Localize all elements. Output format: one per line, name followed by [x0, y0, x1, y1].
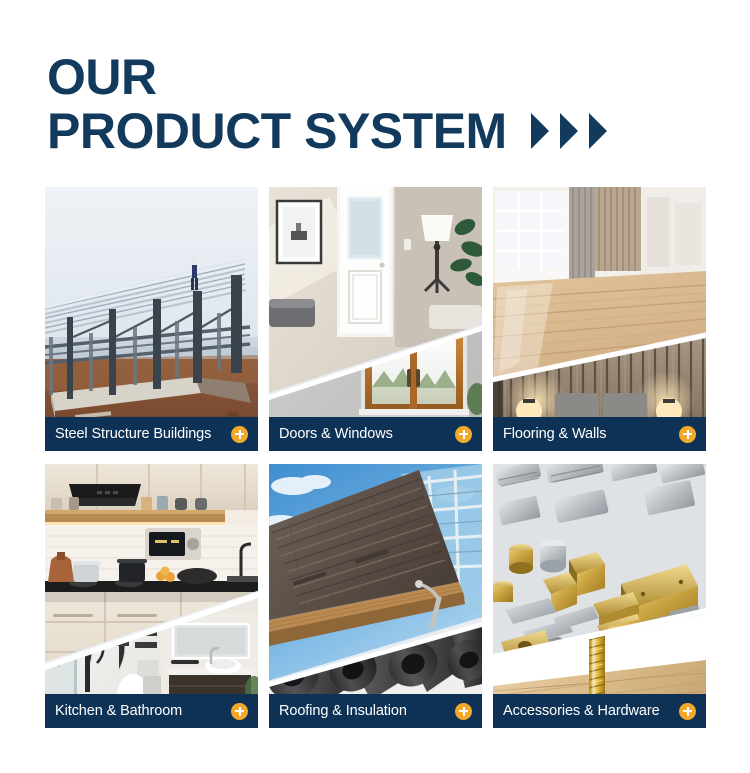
card-image-steel-structure-buildings — [45, 187, 258, 451]
card-label-text: Flooring & Walls — [503, 426, 679, 442]
plus-icon[interactable] — [231, 426, 248, 443]
product-card-doors-windows[interactable]: Doors & Windows — [269, 187, 482, 451]
product-card-grid: Steel Structure Buildings — [45, 187, 706, 728]
chevron-right-icon — [558, 111, 580, 151]
page-title-line-1: OUR — [47, 52, 609, 102]
chevron-group — [529, 111, 609, 151]
card-label-bar[interactable]: Accessories & Hardware — [493, 694, 706, 728]
card-label-text: Accessories & Hardware — [503, 703, 679, 719]
steel-structure-illustration — [45, 187, 258, 451]
product-card-roofing-insulation[interactable]: Roofing & Insulation — [269, 464, 482, 728]
card-image-flooring-walls — [493, 187, 706, 451]
card-image-roofing-insulation — [269, 464, 482, 728]
card-label-text: Roofing & Insulation — [279, 703, 455, 719]
plus-icon[interactable] — [679, 703, 696, 720]
chevron-right-icon — [587, 111, 609, 151]
page-title: OUR PRODUCT SYSTEM — [47, 52, 609, 156]
card-label-bar[interactable]: Steel Structure Buildings — [45, 417, 258, 451]
plus-icon[interactable] — [231, 703, 248, 720]
product-card-kitchen-bathroom[interactable]: Kitchen & Bathroom — [45, 464, 258, 728]
card-image-doors-windows — [269, 187, 482, 451]
product-card-steel-structure-buildings[interactable]: Steel Structure Buildings — [45, 187, 258, 451]
plus-icon[interactable] — [455, 426, 472, 443]
card-label-text: Doors & Windows — [279, 426, 455, 442]
card-label-bar[interactable]: Roofing & Insulation — [269, 694, 482, 728]
card-label-bar[interactable]: Flooring & Walls — [493, 417, 706, 451]
card-label-bar[interactable]: Kitchen & Bathroom — [45, 694, 258, 728]
product-card-flooring-walls[interactable]: Flooring & Walls — [493, 187, 706, 451]
card-image-kitchen-bathroom — [45, 464, 258, 728]
plus-icon[interactable] — [679, 426, 696, 443]
card-label-text: Kitchen & Bathroom — [55, 703, 231, 719]
product-system-page: OUR PRODUCT SYSTEM — [0, 0, 750, 773]
chevron-right-icon — [529, 111, 551, 151]
card-label-bar[interactable]: Doors & Windows — [269, 417, 482, 451]
card-label-text: Steel Structure Buildings — [55, 426, 231, 442]
card-image-accessories-hardware — [493, 464, 706, 728]
product-card-accessories-hardware[interactable]: Accessories & Hardware — [493, 464, 706, 728]
page-title-line-2: PRODUCT SYSTEM — [47, 106, 507, 156]
plus-icon[interactable] — [455, 703, 472, 720]
